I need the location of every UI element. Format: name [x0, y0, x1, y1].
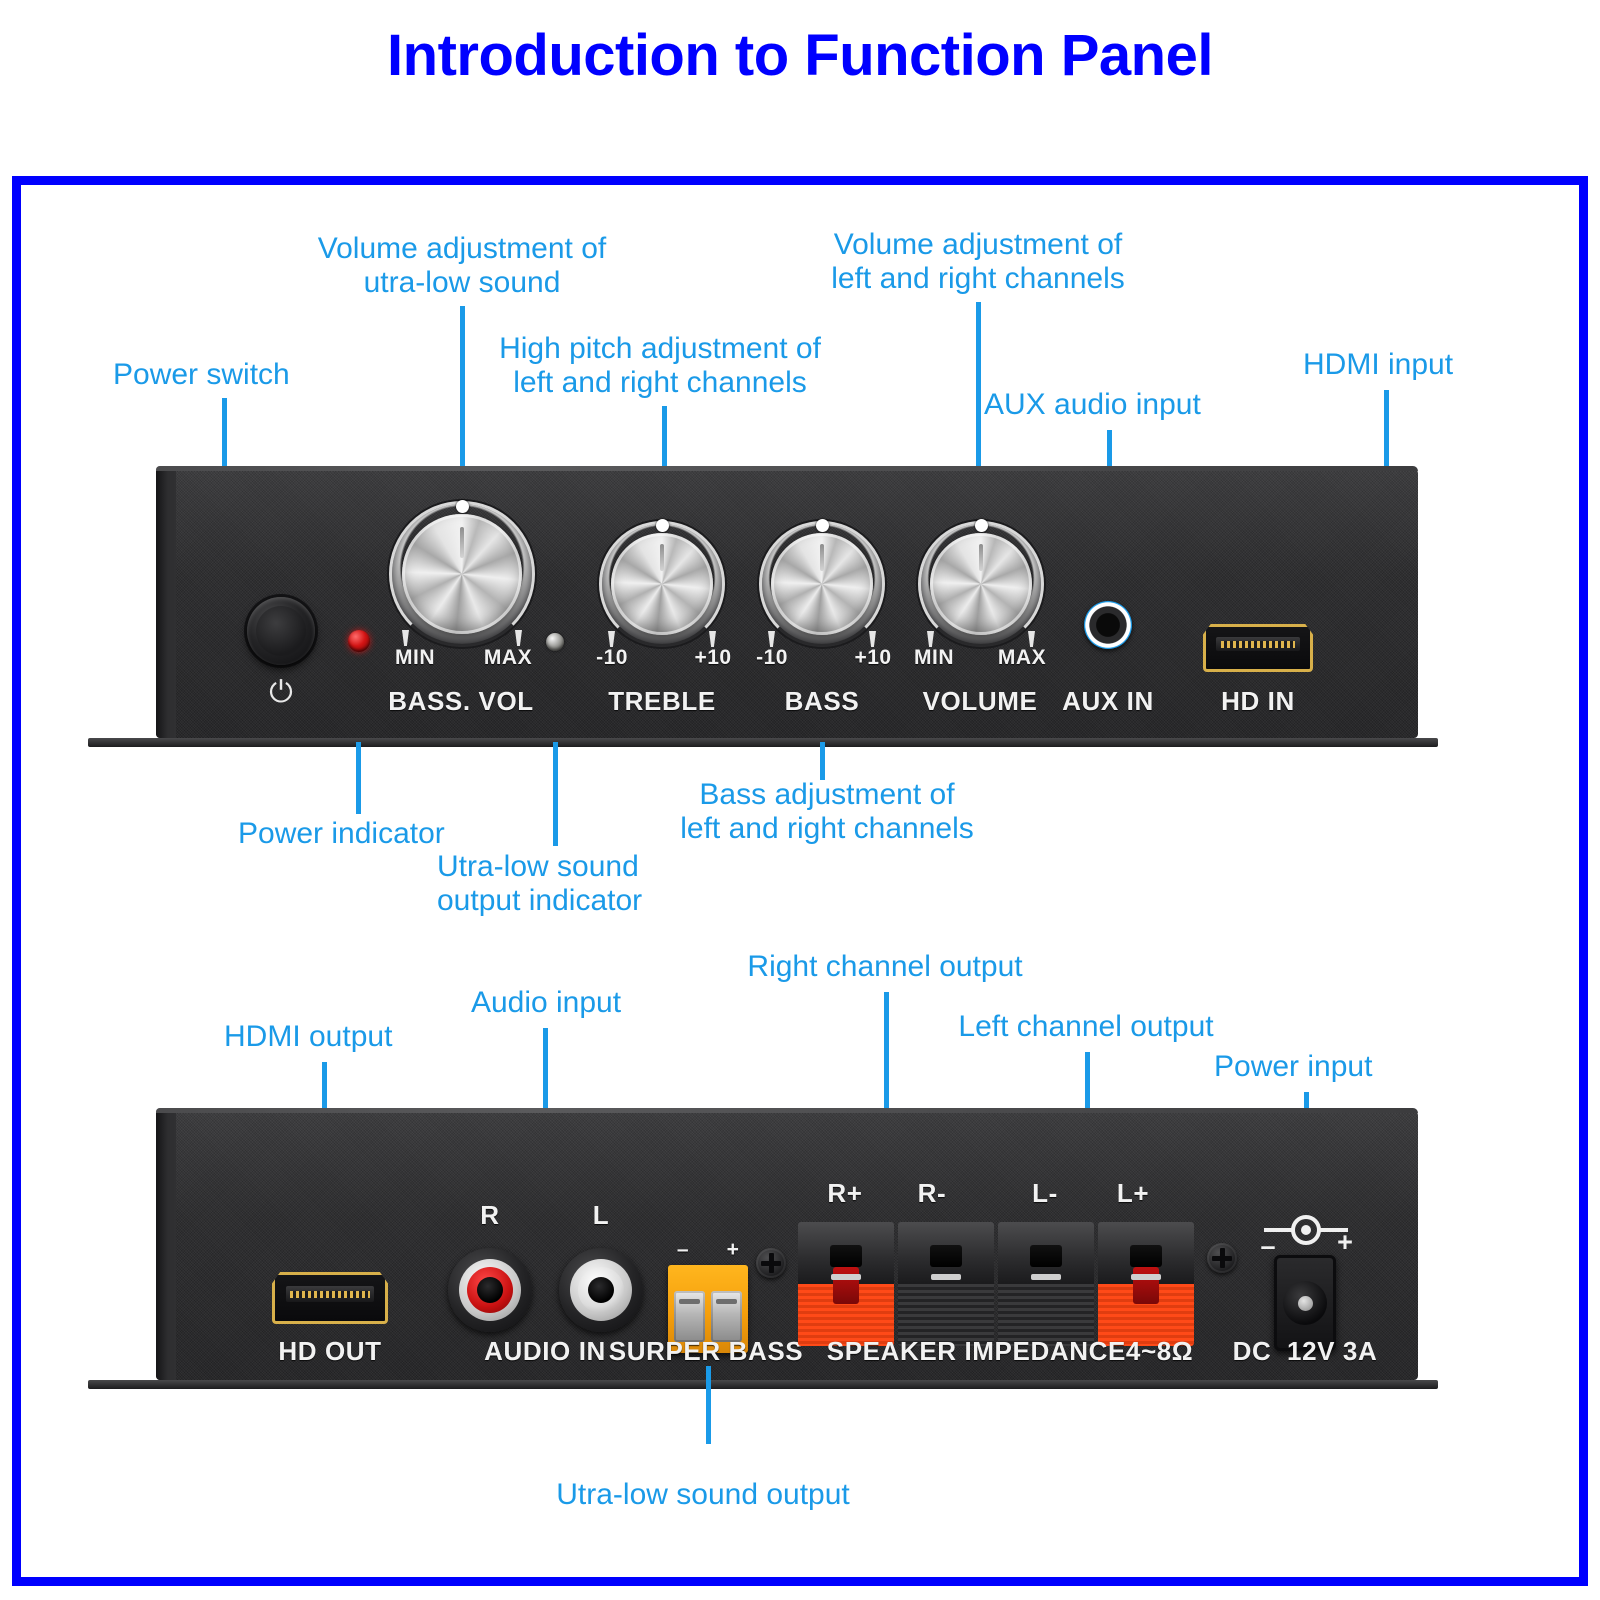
rca-right-mark: R — [480, 1200, 499, 1231]
front-panel-base — [88, 738, 1438, 747]
volume-knob-dot — [975, 519, 988, 532]
treble-knob-dot — [656, 519, 669, 532]
treble-knob[interactable] — [602, 524, 722, 644]
dc-minus-mark: – — [1260, 1233, 1275, 1260]
speaker-mark-r-plus: R+ — [827, 1178, 862, 1209]
callout-treble: High pitch adjustment of left and right … — [499, 332, 821, 400]
chassis-screw-right — [1207, 1243, 1237, 1273]
speaker-terminal-l-minus[interactable] — [996, 1222, 1096, 1346]
page-root: Introduction to Function Panel Power swi… — [0, 0, 1600, 1600]
leader-subwoofer-indicator — [553, 742, 558, 846]
dc-plus-mark: + — [1337, 1229, 1353, 1256]
volume-scale-max: MAX — [998, 646, 1046, 670]
bass-scale-max: +10 — [854, 646, 891, 670]
chassis-screw-left — [756, 1248, 786, 1278]
callout-power-input: Power input — [1214, 1050, 1372, 1084]
treble-label: TREBLE — [608, 686, 716, 717]
callout-power-switch: Power switch — [113, 358, 290, 392]
bass-scale-min: -10 — [756, 646, 788, 670]
speaker-l-plus-slot — [1131, 1274, 1161, 1280]
speaker-mark-l-plus: L+ — [1117, 1178, 1149, 1209]
power-symbol-icon: ⏻ — [269, 678, 293, 708]
speaker-r-plus-dot — [833, 1267, 859, 1304]
bass-volume-label: BASS. VOL — [388, 686, 534, 717]
callout-bass-volume: Volume adjustment of utra-low sound — [318, 232, 607, 300]
dc-in-label: DC 12V 3A — [1233, 1336, 1378, 1367]
bass-volume-knob-face — [402, 514, 522, 634]
callout-aux-audio-input: AUX audio input — [984, 388, 1201, 422]
callout-power-indicator: Power indicator — [238, 817, 445, 851]
speaker-terminal-block — [796, 1222, 1196, 1346]
treble-scale-min: -10 — [596, 646, 628, 670]
surper-bass-screw-minus[interactable] — [674, 1291, 704, 1342]
leader-subwoofer-output — [706, 1366, 711, 1444]
hd-in-port[interactable] — [1203, 624, 1313, 672]
callout-left-channel-output: Left channel output — [958, 1010, 1213, 1044]
volume-scale-min: MIN — [914, 646, 954, 670]
speaker-r-plus-slot — [831, 1274, 861, 1280]
subwoofer-output-indicator-led — [546, 633, 564, 651]
callout-right-channel-output: Right channel output — [747, 950, 1022, 984]
speaker-l-plus-dot — [1133, 1267, 1159, 1304]
treble-scale-max: +10 — [694, 646, 731, 670]
leader-bass-bottom — [820, 742, 825, 780]
speaker-impedance-label: SPEAKER IMPEDANCE4~8Ω — [827, 1336, 1193, 1367]
treble-knob-face — [611, 533, 713, 635]
callout-subwoofer-output: Utra-low sound output — [556, 1478, 850, 1512]
power-switch-button[interactable] — [247, 597, 315, 665]
bass-volume-tick-min — [402, 630, 409, 646]
rca-jack-left[interactable] — [559, 1248, 643, 1332]
page-title: Introduction to Function Panel — [0, 22, 1600, 89]
speaker-l-minus-slot — [1031, 1274, 1061, 1280]
leader-right-channel — [884, 992, 889, 1122]
speaker-terminal-r-minus[interactable] — [896, 1222, 996, 1346]
hd-in-pins — [1221, 641, 1296, 648]
rca-jack-right[interactable] — [448, 1248, 532, 1332]
hd-out-label: HD OUT — [278, 1336, 381, 1367]
bass-knob[interactable] — [762, 524, 882, 644]
surper-bass-screw-plus[interactable] — [711, 1291, 741, 1342]
sub-plus-mark: + — [727, 1238, 740, 1262]
rca-right-hole — [477, 1277, 503, 1303]
speaker-mark-l-minus: L- — [1032, 1178, 1058, 1209]
callout-hdmi-output: HDMI output — [224, 1020, 392, 1054]
rca-left-hole — [588, 1277, 614, 1303]
aux-in-jack[interactable] — [1084, 601, 1132, 649]
sub-minus-mark: – — [677, 1238, 689, 1262]
rear-panel-base — [88, 1380, 1438, 1389]
power-indicator-led — [348, 630, 370, 652]
aux-in-label: AUX IN — [1062, 686, 1154, 717]
speaker-r-minus-slot — [931, 1274, 961, 1280]
callout-audio-input: Audio input — [471, 986, 621, 1020]
bass-volume-knob[interactable] — [392, 504, 532, 644]
rca-left-mark: L — [593, 1200, 609, 1231]
callout-hdmi-input: HDMI input — [1303, 348, 1453, 382]
bass-volume-knob-dot — [456, 500, 469, 513]
bass-volume-scale-max: MAX — [484, 646, 532, 670]
leader-power-indicator — [356, 742, 361, 814]
volume-knob-face — [930, 533, 1032, 635]
hd-out-pins — [290, 1291, 369, 1298]
hd-out-port[interactable] — [272, 1272, 388, 1324]
bass-label: BASS — [785, 686, 860, 717]
audio-in-label: AUDIO IN — [484, 1336, 606, 1367]
callout-subwoofer-indicator: Utra-low sound output indicator — [437, 850, 642, 918]
callout-volume: Volume adjustment of left and right chan… — [831, 228, 1125, 296]
speaker-mark-r-minus: R- — [918, 1178, 947, 1209]
callout-bass: Bass adjustment of left and right channe… — [680, 778, 974, 846]
bass-knob-dot — [816, 519, 829, 532]
speaker-terminal-l-plus[interactable] — [1096, 1222, 1196, 1346]
bass-knob-face — [771, 533, 873, 635]
speaker-terminal-r-plus[interactable] — [796, 1222, 896, 1346]
hd-in-label: HD IN — [1221, 686, 1295, 717]
bass-volume-scale-min: MIN — [395, 646, 435, 670]
surper-bass-label: SURPER BASS — [609, 1336, 803, 1367]
bass-volume-tick-max — [515, 630, 522, 646]
volume-knob[interactable] — [921, 524, 1041, 644]
volume-label: VOLUME — [923, 686, 1038, 717]
